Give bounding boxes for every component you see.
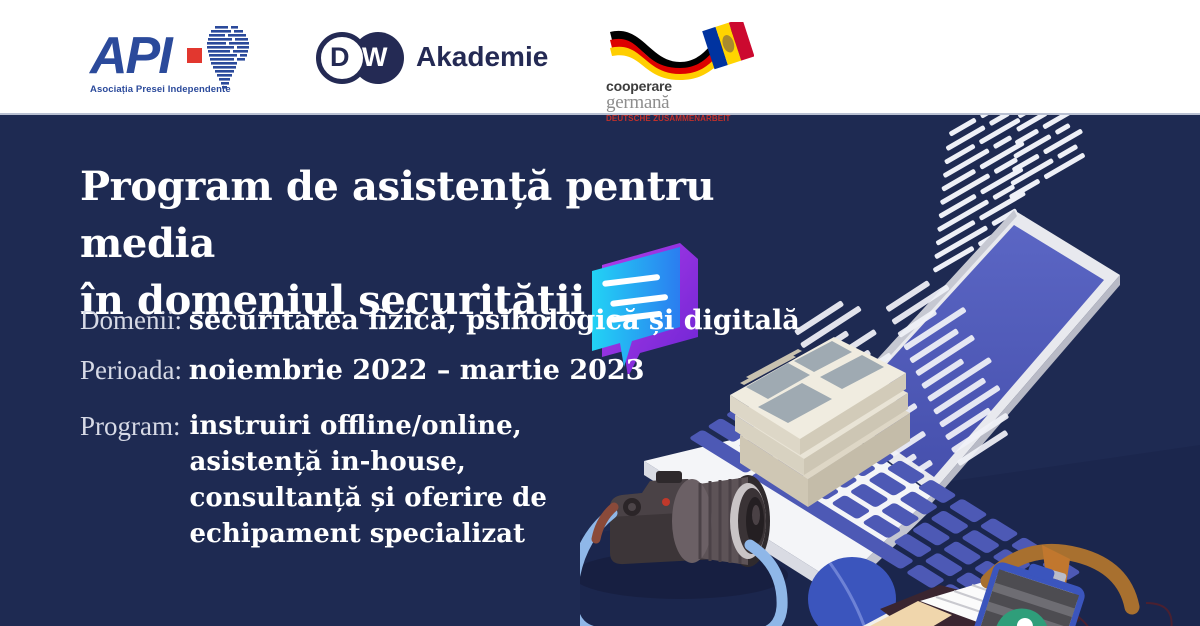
api-accent-square	[187, 48, 202, 63]
program-line-3: consultanță și oferire de	[190, 480, 547, 516]
headline-line-1: Program de asistență pentru media	[80, 158, 860, 272]
info-row-domenii: Domenii: securitatea fizică, psihologică…	[80, 303, 800, 338]
api-logo: API Asociația Presei Independente	[88, 22, 253, 102]
info-label-program: Program:	[80, 408, 181, 444]
dw-letter-w: W	[362, 44, 387, 71]
info-label-domenii: Domenii:	[80, 305, 182, 335]
poster-root: API Asociația Presei Independente	[0, 0, 1200, 626]
api-wordmark: API	[90, 26, 171, 86]
info-value-domenii: securitatea fizică, psihologică și digit…	[189, 305, 800, 336]
moldova-map-icon	[201, 24, 253, 92]
info-row-program: Program: instruiri offline/online, asist…	[80, 408, 547, 552]
coop-line-2: germană	[606, 92, 669, 114]
info-value-perioada: noiembrie 2022 – martie 2023	[189, 355, 645, 386]
dw-wordmark: Akademie	[416, 41, 548, 73]
cooperare-germana-logo: cooperare germană DEUTSCHE ZUSAMMENARBEI…	[598, 22, 758, 112]
program-line-4: echipament specializat	[190, 516, 547, 552]
german-moldovan-flag-ribbon-icon	[602, 22, 754, 80]
dw-letter-d: D	[330, 44, 350, 71]
program-line-2: asistență in-house,	[190, 444, 547, 480]
info-label-perioada: Perioada:	[80, 355, 182, 385]
info-value-program: instruiri offline/online, asistență in-h…	[190, 408, 547, 552]
program-line-1: instruiri offline/online,	[190, 408, 547, 444]
dw-akademie-logo: D W Akademie	[316, 32, 548, 84]
info-row-perioada: Perioada: noiembrie 2022 – martie 2023	[80, 353, 645, 388]
